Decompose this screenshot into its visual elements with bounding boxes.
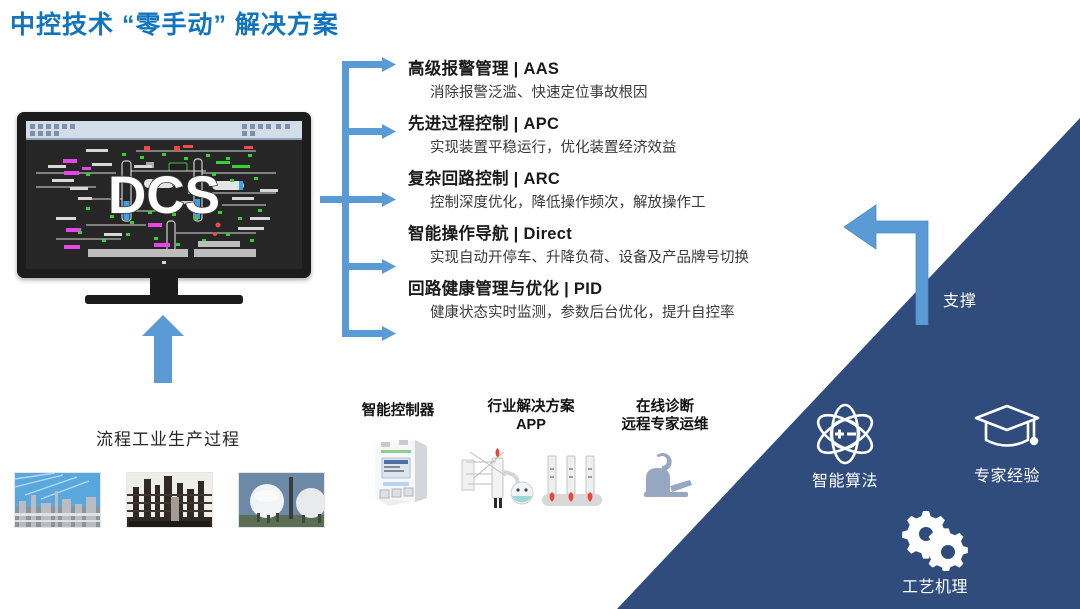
- solution-title: 智能操作导航 | Direct: [408, 223, 838, 245]
- solution-title: 高级报警管理 | AAS: [408, 58, 838, 80]
- product-controller[interactable]: 智能控制器: [338, 402, 458, 513]
- solution-item-arc[interactable]: 复杂回路控制 | ARC 控制深度优化，降低操作频次，解放操作工: [408, 168, 838, 214]
- up-arrow-icon: [142, 315, 184, 383]
- gears-icon: [892, 505, 978, 571]
- capability-expert-experience[interactable]: 专家经验: [952, 400, 1062, 486]
- solution-title: 先进过程控制 | APC: [408, 113, 838, 135]
- industrial-photo-strip: [14, 472, 325, 528]
- solution-list: 高级报警管理 | AAS 消除报警泛滥、快速定位事故根因 先进过程控制 | AP…: [408, 58, 838, 333]
- product-label-line2: 远程专家运维: [600, 416, 730, 434]
- process-unit-icon: [456, 440, 606, 513]
- solution-item-apc[interactable]: 先进过程控制 | APC 实现装置平稳运行，优化装置经济效益: [408, 113, 838, 159]
- solution-item-aas[interactable]: 高级报警管理 | AAS 消除报警泛滥、快速定位事故根因: [408, 58, 838, 104]
- product-label: 智能控制器: [338, 402, 458, 420]
- page-title: 中控技术 “零手动” 解决方案: [10, 5, 339, 41]
- solution-desc: 实现自动开停车、升降负荷、设备及产品牌号切换: [430, 248, 838, 269]
- monitor-screen: DCS: [26, 121, 302, 269]
- capability-label: 智能算法: [790, 467, 900, 491]
- spherical-tanks-photo: [238, 472, 325, 528]
- petrochemical-plant-photo: [126, 472, 213, 528]
- product-label-line1: 在线诊断: [600, 398, 730, 416]
- graduation-cap-icon: [972, 400, 1042, 460]
- product-label-line2: APP: [456, 416, 606, 434]
- refinery-blue-sky-photo: [14, 472, 101, 528]
- product-label-line1: 行业解决方案: [456, 398, 606, 416]
- capability-process-mechanism[interactable]: 工艺机理: [875, 505, 995, 597]
- product-remote-expert[interactable]: 在线诊断 远程专家运维: [600, 398, 730, 509]
- product-industry-app[interactable]: 行业解决方案 APP: [456, 398, 606, 513]
- dcs-monitor: DCS: [17, 112, 311, 304]
- monitor-base: [85, 295, 243, 304]
- atom-icon: [811, 403, 879, 465]
- solution-item-direct[interactable]: 智能操作导航 | Direct 实现自动开停车、升降负荷、设备及产品牌号切换: [408, 223, 838, 269]
- branch-arrows: [320, 55, 410, 345]
- capability-smart-algorithm[interactable]: 智能算法: [790, 403, 900, 491]
- dcs-process-graphic: DCS: [26, 121, 302, 269]
- slide-canvas: 中控技术 “零手动” 解决方案: [0, 0, 1080, 609]
- solution-desc: 消除报警泛滥、快速定位事故根因: [430, 83, 838, 104]
- svg-text:DCS: DCS: [108, 166, 220, 225]
- solution-desc: 实现装置平稳运行，优化装置经济效益: [430, 138, 838, 159]
- controller-module-icon: [338, 426, 458, 513]
- remote-expert-icon: [600, 440, 730, 509]
- product-group: 智能控制器: [338, 398, 738, 513]
- monitor-bezel: DCS: [17, 112, 311, 278]
- capability-label: 工艺机理: [875, 573, 995, 597]
- solution-desc: 健康状态实时监测，参数后台优化，提升自控率: [430, 303, 838, 324]
- solution-desc: 控制深度优化，降低操作频次，解放操作工: [430, 193, 838, 214]
- solution-title: 回路健康管理与优化 | PID: [408, 278, 838, 300]
- solution-item-pid[interactable]: 回路健康管理与优化 | PID 健康状态实时监测，参数后台优化，提升自控率: [408, 278, 838, 324]
- capability-label: 专家经验: [952, 462, 1062, 486]
- support-label: 支撑: [943, 287, 977, 311]
- solution-title: 复杂回路控制 | ARC: [408, 168, 838, 190]
- process-industry-label: 流程工业生产过程: [48, 425, 288, 450]
